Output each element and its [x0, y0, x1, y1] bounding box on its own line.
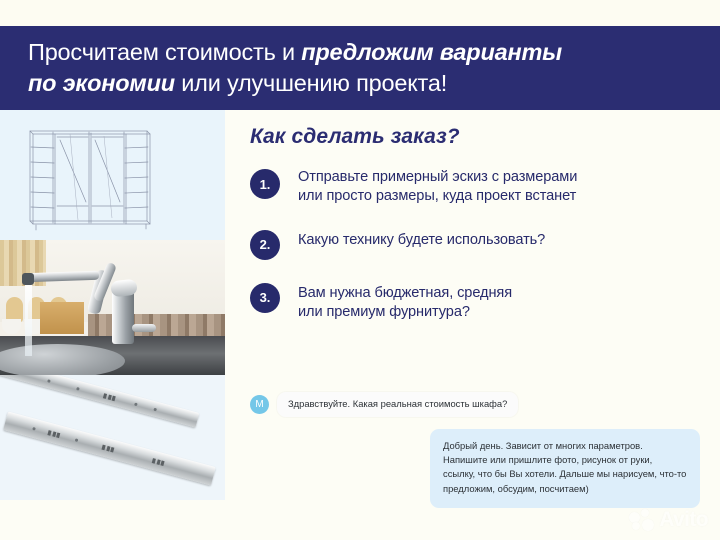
wardrobe-sketch-drawing	[0, 110, 225, 240]
step-number-badge: 3.	[250, 283, 280, 313]
faucet-aerator	[22, 273, 34, 285]
header-band: Просчитаем стоимость и предложим вариант…	[0, 26, 720, 110]
step-text: Вам нужна бюджетная, средняя или премиум…	[298, 282, 512, 323]
steps-list: 1. Отправьте примерный эскиз с размерами…	[250, 168, 705, 345]
step-item: 1. Отправьте примерный эскиз с размерами…	[250, 168, 705, 207]
rail-detent	[103, 393, 116, 401]
avito-wordmark: Avito	[659, 508, 708, 532]
faucet-image	[0, 240, 225, 375]
drawer-slides-image	[0, 375, 225, 540]
step-number-badge: 1.	[250, 169, 280, 199]
header-title-part-1: Просчитаем стоимость и	[28, 39, 301, 65]
sink-basin	[0, 344, 125, 375]
faucet-side-outlet	[132, 324, 156, 332]
chat-bubble-incoming-text: Здравствуйте. Какая реальная стоимость ш…	[277, 392, 518, 417]
content-column: Как сделать заказ? 1. Отправьте примерны…	[225, 110, 720, 540]
step-text: Отправьте примерный эскиз с размерами ил…	[298, 168, 577, 207]
wooden-board	[40, 302, 84, 334]
step-number-badge: 2.	[250, 230, 280, 260]
rail-detent	[152, 458, 165, 466]
header-title-part-2: или улучшению проекта!	[175, 70, 447, 96]
chat-conversation: М Здравствуйте. Какая реальная стоимость…	[250, 392, 700, 508]
stone-backsplash	[88, 314, 225, 338]
avatar: М	[250, 395, 269, 414]
avito-logo-icon	[629, 509, 655, 531]
wardrobe-sketch-image	[0, 110, 225, 240]
rail-detent	[102, 444, 115, 452]
image-gallery-column	[0, 110, 225, 540]
step-item: 2. Какую технику будете использовать?	[250, 229, 705, 260]
body-area: Как сделать заказ? 1. Отправьте примерны…	[0, 110, 720, 540]
section-title: Как сделать заказ?	[250, 125, 460, 149]
step-item: 3. Вам нужна бюджетная, средняя или прем…	[250, 282, 705, 323]
header-title: Просчитаем стоимость и предложим вариант…	[0, 37, 590, 98]
photo-bottom-fade	[0, 500, 225, 540]
chat-message-outgoing: Добрый день. Зависит от многих параметро…	[250, 429, 700, 508]
slide-canvas: Просчитаем стоимость и предложим вариант…	[0, 0, 720, 540]
chat-bubble-outgoing-text: Добрый день. Зависит от многих параметро…	[430, 429, 700, 508]
running-water	[25, 284, 32, 356]
top-strip	[0, 0, 720, 26]
step-text: Какую технику будете использовать?	[298, 229, 545, 250]
rail-detent	[48, 430, 61, 438]
avito-watermark: Avito	[629, 508, 708, 532]
chat-message-incoming: М Здравствуйте. Какая реальная стоимость…	[250, 392, 700, 417]
dish-bowl	[2, 319, 21, 334]
